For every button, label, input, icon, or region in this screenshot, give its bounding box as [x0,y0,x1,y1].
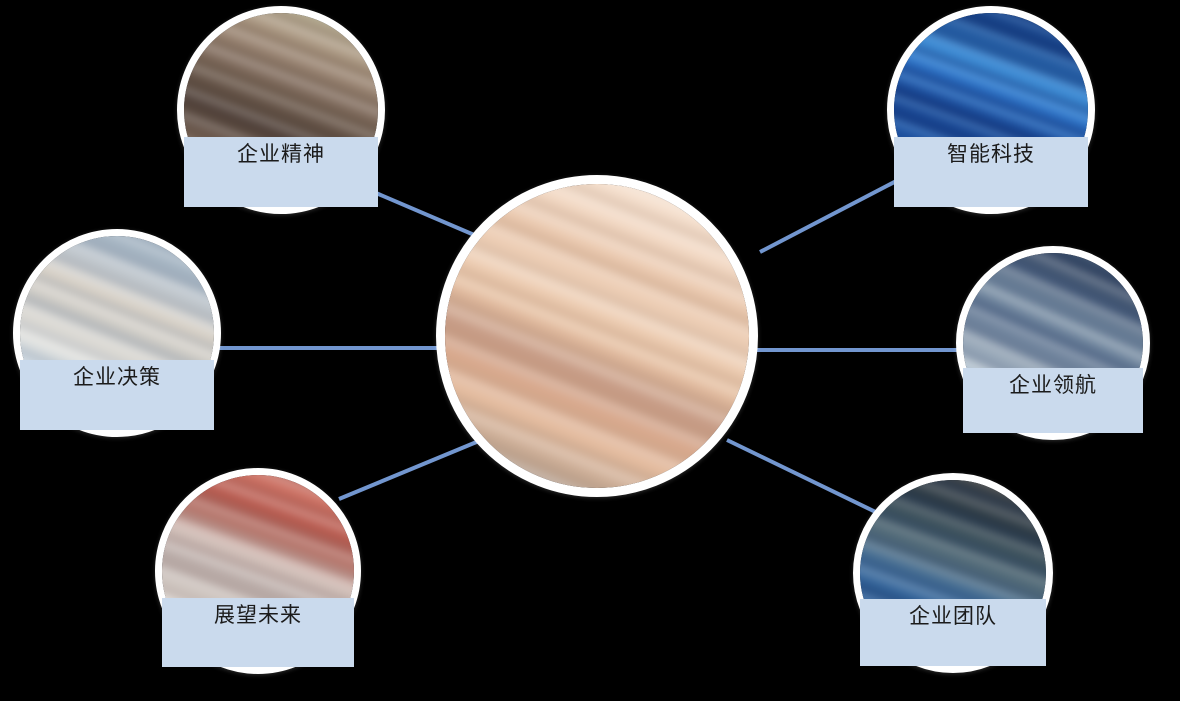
node-enterprise-team[interactable]: 企业团队 [853,473,1053,673]
node-enterprise-spirit[interactable]: 企业精神 [177,6,385,214]
node-enterprise-decision-label: 企业决策 [73,367,161,388]
node-enterprise-spirit-label: 企业精神 [237,144,325,165]
node-enterprise-decision[interactable]: 企业决策 [13,229,221,437]
blurred-warm-beige-streaks-image [445,184,749,488]
node-smart-technology-label: 智能科技 [947,144,1035,165]
node-enterprise-spirit-band: 企业精神 [184,137,378,207]
node-smart-technology[interactable]: 智能科技 [887,6,1095,214]
node-smart-technology-band: 智能科技 [894,137,1088,207]
node-enterprise-navigation-label: 企业领航 [1009,375,1097,396]
diagram-canvas: 企业精神 智能科技 企业决策 企业领航 展望未来 [0,0,1180,701]
node-enterprise-decision-band: 企业决策 [20,360,214,430]
node-look-to-future-label: 展望未来 [214,605,302,626]
node-look-to-future[interactable]: 展望未来 [155,468,361,674]
node-enterprise-navigation[interactable]: 企业领航 [956,246,1150,440]
node-enterprise-team-band: 企业团队 [860,599,1046,666]
node-look-to-future-band: 展望未来 [162,598,354,667]
node-enterprise-navigation-band: 企业领航 [963,368,1143,433]
center-hub-inner [445,184,749,488]
hub-to-smart-technology [760,177,904,252]
node-enterprise-team-label: 企业团队 [909,606,997,627]
center-hub-node[interactable] [436,175,758,497]
